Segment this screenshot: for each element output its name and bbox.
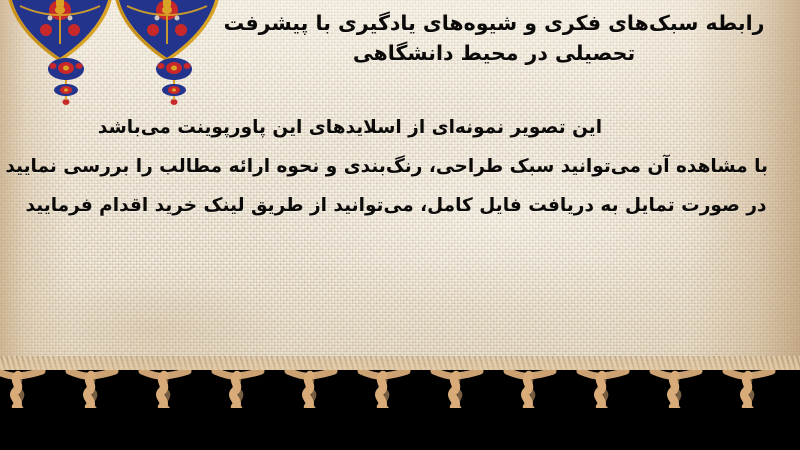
canvas-texture-background [0,0,800,374]
carpet-fringe-tassel-icon [355,370,411,448]
carpet-fringe-tassel-icon [209,370,265,448]
carpet-fringe-tassel-icon [647,370,703,448]
carpet-fringe [0,370,800,450]
carpet-fringe-tassel-icon [720,370,776,448]
carpet-fringe-tassel-icon [63,370,119,448]
carpet-fringe-tassel-icon [428,370,484,448]
carpet-fringe-tassel-icon [0,370,46,448]
carpet-fringe-tassel-icon [574,370,630,448]
carpet-fringe-tassel-icon [282,370,338,448]
slide-canvas: رابطه سبک‌های فکری و شیوه‌های یادگیری با… [0,0,800,450]
carpet-fringe-tassel-icon [501,370,557,448]
carpet-fringe-tassel-icon [136,370,192,448]
